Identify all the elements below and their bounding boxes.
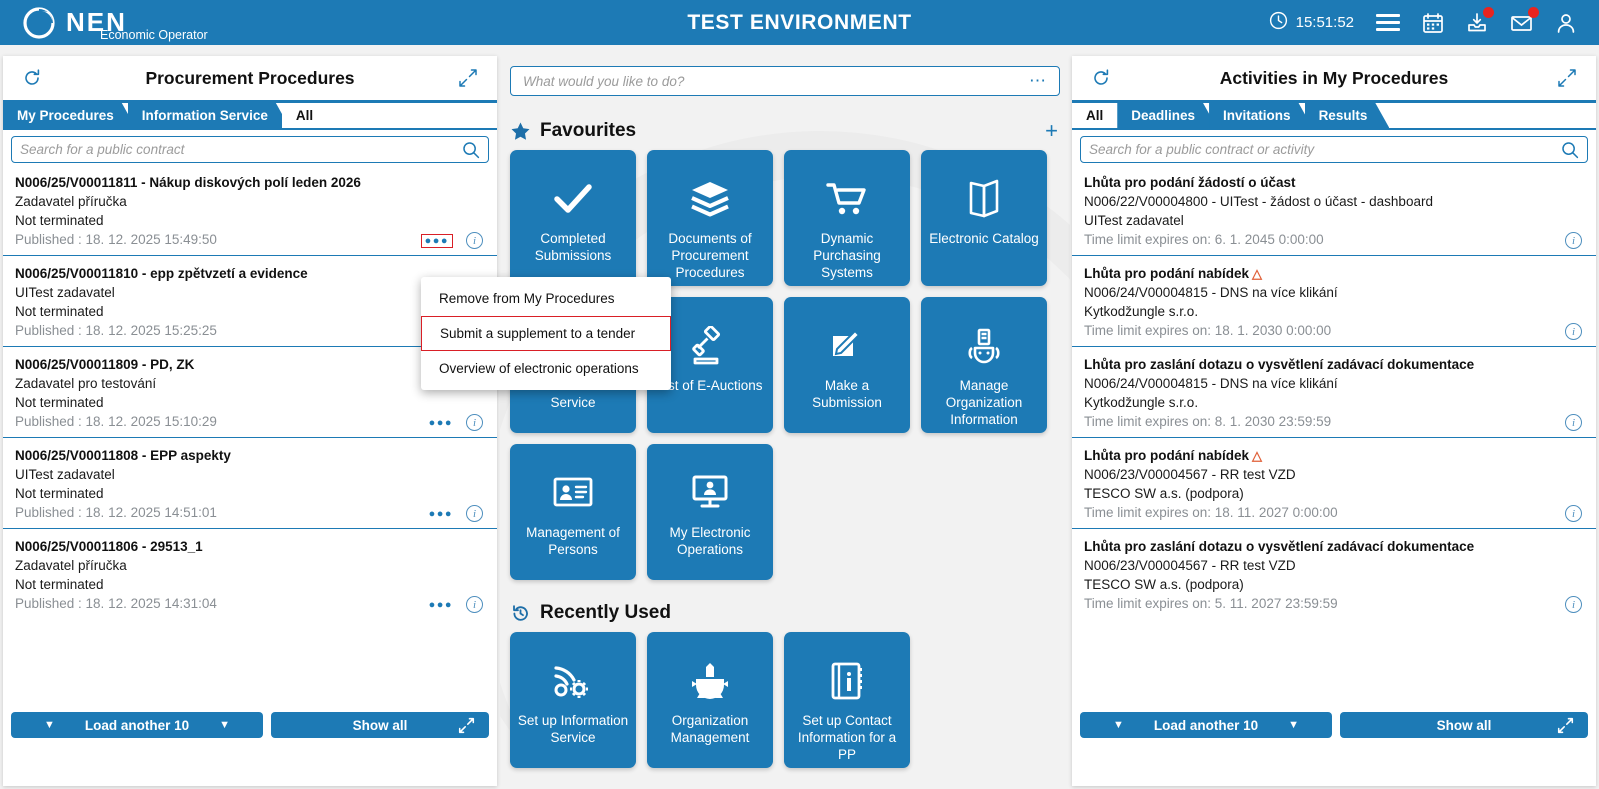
tab-label: Deadlines: [1131, 108, 1195, 123]
row-actions: i: [1565, 596, 1582, 613]
row-actions: i: [1565, 414, 1582, 431]
monitor-user-icon: [690, 470, 730, 516]
tile-label: My Electronic Operations: [647, 524, 773, 558]
info-icon[interactable]: i: [466, 414, 483, 431]
procedure-status: Not terminated: [15, 302, 485, 321]
load-more-button[interactable]: ▼ Load another 10 ▼: [1080, 712, 1332, 738]
expand-icon: [1557, 717, 1574, 734]
left-panel-header: Procurement Procedures: [3, 56, 497, 103]
check-icon: [553, 176, 593, 222]
brand-logo[interactable]: NEN Economic Operator: [0, 6, 127, 40]
tile-set-up-information-service[interactable]: Set up Information Service: [510, 632, 636, 768]
tile-manage-organization-information[interactable]: Manage Organization Information: [921, 297, 1047, 433]
refresh-icon[interactable]: [1090, 67, 1112, 89]
activities-list: Lhůta pro podání žádostí o účast N006/22…: [1072, 165, 1596, 619]
load-more-label: Load another 10: [85, 718, 189, 733]
user-icon[interactable]: [1555, 12, 1577, 34]
activity-limit: Time limit expires on: 6. 1. 2045 0:00:0…: [1084, 230, 1584, 249]
procedure-status: Not terminated: [15, 211, 485, 230]
tab-label: Invitations: [1223, 108, 1291, 123]
procedure-published: Published : 18. 12. 2025 15:10:29: [15, 412, 485, 431]
row-actions: ●●● i: [421, 232, 483, 249]
activity-contract: N006/24/V00004815 - DNS na více klikání: [1084, 374, 1584, 393]
row-actions: ●●● i: [429, 414, 483, 431]
show-all-label: Show all: [1437, 718, 1492, 733]
organization-gear-icon: [690, 658, 730, 704]
calendar-icon[interactable]: [1422, 12, 1444, 34]
tile-management-of-persons[interactable]: Management of Persons: [510, 444, 636, 580]
tabs-divider: [1072, 128, 1596, 130]
context-menu-item-remove-from-my-procedures[interactable]: Remove from My Procedures: [421, 281, 671, 316]
row-actions: i: [1565, 505, 1582, 522]
activity-org: UITest zadavatel: [1084, 211, 1584, 230]
clock-display: 15:51:52: [1269, 11, 1354, 34]
procedure-title: N006/25/V00011810 - epp zpětvzetí a evid…: [15, 264, 485, 283]
procedure-org: Zadavatel pro testování: [15, 374, 485, 393]
search-input[interactable]: [20, 142, 462, 157]
tab-all[interactable]: All: [282, 103, 335, 128]
envelope-icon[interactable]: [1510, 12, 1533, 34]
activities-panel: Activities in My Procedures All Deadline…: [1072, 56, 1596, 786]
tab-invitations[interactable]: Invitations: [1209, 103, 1313, 128]
right-search-box[interactable]: [1080, 136, 1588, 163]
search-input[interactable]: [1089, 142, 1561, 157]
page-title: Activities in My Procedures: [1112, 68, 1556, 89]
activity-title: Lhůta pro zaslání dotazu o vysvětlení za…: [1084, 357, 1474, 372]
tile-completed-submissions[interactable]: Completed Submissions: [510, 150, 636, 286]
row-actions: ●●● i: [429, 596, 483, 613]
list-item[interactable]: N006/25/V00011808 - EPP aspekty UITest z…: [3, 438, 497, 529]
procedure-org: Zadavatel příručka: [15, 192, 485, 211]
info-icon[interactable]: i: [466, 505, 483, 522]
right-panel-footer-buttons: ▼ Load another 10 ▼ Show all: [1080, 712, 1588, 738]
activity-title: Lhůta pro podání nabídek: [1084, 448, 1249, 463]
tab-label: My Procedures: [17, 108, 114, 123]
tile-label: Electronic Catalog: [923, 230, 1045, 247]
activity-org: TESCO SW a.s. (podpora): [1084, 484, 1584, 503]
notification-badge: [1528, 7, 1539, 18]
info-icon[interactable]: i: [1565, 596, 1582, 613]
context-menu-item-overview-of-electronic-operations[interactable]: Overview of electronic operations: [421, 351, 671, 386]
search-icon[interactable]: [462, 141, 480, 159]
tile-label: Dynamic Purchasing Systems: [784, 230, 910, 281]
favourites-header: Favourites +: [510, 120, 1058, 142]
procurement-procedures-panel: Procurement Procedures My Procedures Inf…: [3, 56, 497, 786]
load-more-label: Load another 10: [1154, 718, 1258, 733]
tile-label: Completed Submissions: [510, 230, 636, 264]
list-item[interactable]: N006/25/V00011811 - Nákup diskových polí…: [3, 165, 497, 256]
row-actions: i: [1565, 232, 1582, 249]
star-icon: [510, 121, 531, 142]
tab-label: All: [296, 108, 313, 123]
tile-dynamic-purchasing-systems[interactable]: Dynamic Purchasing Systems: [784, 150, 910, 286]
activity-contract: N006/23/V00004567 - RR test VZD: [1084, 465, 1584, 484]
left-panel-footer-buttons: ▼ Load another 10 ▼ Show all: [11, 712, 489, 738]
left-search-box[interactable]: [11, 136, 489, 163]
warning-icon: △: [1252, 448, 1262, 463]
info-icon[interactable]: i: [466, 596, 483, 613]
recently-used-header: Recently Used: [510, 602, 1058, 624]
activity-title: Lhůta pro zaslání dotazu o vysvětlení za…: [1084, 539, 1474, 554]
plus-icon[interactable]: +: [1045, 122, 1058, 140]
activity-org: Kytkodžungle s.r.o.: [1084, 302, 1584, 321]
tab-results[interactable]: Results: [1305, 103, 1390, 128]
clock-icon: [1269, 11, 1288, 34]
pencil-square-icon: [828, 323, 866, 369]
activity-contract: N006/24/V00004815 - DNS na více klikání: [1084, 283, 1584, 302]
procedure-title: N006/25/V00011808 - EPP aspekty: [15, 446, 485, 465]
activity-limit: Time limit expires on: 18. 1. 2030 0:00:…: [1084, 321, 1584, 340]
tile-make-a-submission[interactable]: Make a Submission: [784, 297, 910, 433]
context-menu-item-label: Remove from My Procedures: [439, 291, 615, 306]
layers-icon: [690, 176, 730, 222]
notification-badge: [1483, 7, 1494, 18]
recently-used-title: Recently Used: [540, 602, 671, 624]
organization-gear-icon: [964, 323, 1004, 369]
list-item[interactable]: Lhůta pro podání žádostí o účast N006/22…: [1072, 165, 1596, 256]
activity-limit: Time limit expires on: 8. 1. 2030 23:59:…: [1084, 412, 1584, 431]
id-card-icon: [552, 470, 594, 516]
row-actions: ●●● i: [429, 505, 483, 522]
inbox-download-icon[interactable]: [1466, 12, 1488, 34]
brand-subtitle: Economic Operator: [100, 29, 208, 42]
search-icon[interactable]: [1561, 141, 1579, 159]
book-icon: [967, 176, 1001, 222]
context-menu-item-label: Submit a supplement to a tender: [440, 326, 635, 341]
tile-label: Documents of Procurement Procedures: [647, 230, 773, 281]
procedure-published: Published : 18. 12. 2025 15:49:50: [15, 230, 485, 249]
row-actions: i: [1565, 323, 1582, 340]
procedure-status: Not terminated: [15, 393, 485, 412]
tile-label: Manage Organization Information: [921, 377, 1047, 428]
tab-label: Information Service: [142, 108, 268, 123]
list-item[interactable]: Lhůta pro zaslání dotazu o vysvětlení za…: [1072, 529, 1596, 619]
expand-icon: [458, 717, 475, 734]
tile-documents-of-procurement-procedures[interactable]: Documents of Procurement Procedures: [647, 150, 773, 286]
recently-used-tiles: Set up Information Service Organization …: [510, 632, 1060, 768]
tile-label: Make a Submission: [784, 377, 910, 411]
command-search-box[interactable]: ⋯: [510, 66, 1060, 96]
show-all-button[interactable]: Show all: [1340, 712, 1588, 738]
row-context-menu: Remove from My Procedures Submit a suppl…: [421, 277, 671, 390]
chevron-down-icon: ▼: [1288, 719, 1299, 731]
list-item[interactable]: Lhůta pro podání nabídek△ N006/24/V00004…: [1072, 256, 1596, 347]
tab-my-procedures[interactable]: My Procedures: [3, 103, 136, 128]
shopping-cart-icon: [826, 176, 868, 222]
favourites-title: Favourites: [540, 120, 636, 142]
procedure-published: Published : 18. 12. 2025 15:25:25: [15, 321, 485, 340]
info-icon[interactable]: i: [1565, 323, 1582, 340]
hamburger-menu-icon[interactable]: [1376, 14, 1400, 31]
info-book-icon: [829, 658, 865, 704]
activity-org: Kytkodžungle s.r.o.: [1084, 393, 1584, 412]
left-panel-tabs: My Procedures Information Service All: [3, 103, 497, 128]
tile-organization-management[interactable]: Organization Management: [647, 632, 773, 768]
nen-logo-icon: [22, 6, 56, 40]
warning-icon: △: [1252, 266, 1262, 281]
tab-label: All: [1086, 108, 1103, 123]
procedure-status: Not terminated: [15, 484, 485, 503]
row-menu-icon[interactable]: ●●●: [421, 234, 453, 248]
row-menu-icon[interactable]: ●●●: [429, 418, 453, 428]
procedure-org: Zadavatel příručka: [15, 556, 485, 575]
ellipsis-icon[interactable]: ⋯: [1029, 76, 1047, 86]
chevron-down-icon: ▼: [1113, 719, 1124, 731]
procedure-title: N006/25/V00011806 - 29513_1: [15, 537, 485, 556]
chevron-down-icon: ▼: [44, 719, 55, 731]
tile-label: Set up Contact Information for a PP: [784, 712, 910, 763]
activity-title: Lhůta pro podání žádostí o účast: [1084, 175, 1296, 190]
procedure-title: N006/25/V00011809 - PD, ZK: [15, 355, 485, 374]
procedure-org: UITest zadavatel: [15, 283, 485, 302]
context-menu-item-submit-a-supplement-to-a-tender[interactable]: Submit a supplement to a tender: [421, 316, 671, 351]
procedure-published: Published : 18. 12. 2025 14:31:04: [15, 594, 485, 613]
right-panel-tabs: All Deadlines Invitations Results: [1072, 103, 1596, 128]
info-icon[interactable]: i: [1565, 414, 1582, 431]
activity-limit: Time limit expires on: 18. 11. 2027 0:00…: [1084, 503, 1584, 522]
info-icon[interactable]: i: [1565, 232, 1582, 249]
tile-electronic-catalog[interactable]: Electronic Catalog: [921, 150, 1047, 286]
tile-set-up-contact-information-for-a-pp[interactable]: Set up Contact Information for a PP: [784, 632, 910, 768]
center-dashboard: ⋯ Favourites + Completed Submissions Doc…: [500, 56, 1070, 789]
tab-deadlines[interactable]: Deadlines: [1117, 103, 1217, 128]
activity-contract: N006/23/V00004567 - RR test VZD: [1084, 556, 1584, 575]
procedures-list: N006/25/V00011811 - Nákup diskových polí…: [3, 165, 497, 619]
activity-limit: Time limit expires on: 5. 11. 2027 23:59…: [1084, 594, 1584, 613]
row-menu-icon[interactable]: ●●●: [429, 509, 453, 519]
load-more-button[interactable]: ▼ Load another 10 ▼: [11, 712, 263, 738]
clock-time: 15:51:52: [1296, 14, 1354, 31]
chevron-down-icon: ▼: [219, 719, 230, 731]
activity-contract: N006/22/V00004800 - UITest - žádost o úč…: [1084, 192, 1584, 211]
procedure-published: Published : 18. 12. 2025 14:51:01: [15, 503, 485, 522]
info-icon[interactable]: i: [1565, 505, 1582, 522]
info-icon[interactable]: i: [466, 232, 483, 249]
list-item[interactable]: N006/25/V00011806 - 29513_1 Zadavatel př…: [3, 529, 497, 619]
expand-icon[interactable]: [457, 67, 479, 89]
activity-title: Lhůta pro podání nabídek: [1084, 266, 1249, 281]
tab-label: Results: [1319, 108, 1368, 123]
tile-label: Organization Management: [647, 712, 773, 746]
row-menu-icon[interactable]: ●●●: [429, 600, 453, 610]
list-item[interactable]: Lhůta pro podání nabídek△ N006/23/V00004…: [1072, 438, 1596, 529]
tabs-divider: [3, 128, 497, 130]
gavel-icon: [689, 323, 731, 369]
show-all-label: Show all: [353, 718, 408, 733]
tile-label: Management of Persons: [510, 524, 636, 558]
tile-my-electronic-operations[interactable]: My Electronic Operations: [647, 444, 773, 580]
activity-org: TESCO SW a.s. (podpora): [1084, 575, 1584, 594]
show-all-button[interactable]: Show all: [271, 712, 489, 738]
list-item[interactable]: Lhůta pro zaslání dotazu o vysvětlení za…: [1072, 347, 1596, 438]
page-title: Procurement Procedures: [43, 68, 457, 89]
history-icon: [510, 603, 531, 624]
procedure-status: Not terminated: [15, 575, 485, 594]
refresh-icon[interactable]: [21, 67, 43, 89]
command-search-input[interactable]: [523, 74, 1029, 89]
context-menu-item-label: Overview of electronic operations: [439, 361, 639, 376]
tab-information-service[interactable]: Information Service: [128, 103, 290, 128]
expand-icon[interactable]: [1556, 67, 1578, 89]
tile-label: Set up Information Service: [510, 712, 636, 746]
procedure-title: N006/25/V00011811 - Nákup diskových polí…: [15, 173, 485, 192]
procedure-org: UITest zadavatel: [15, 465, 485, 484]
top-header-bar: NEN Economic Operator TEST ENVIRONMENT 1…: [0, 0, 1599, 45]
rss-gear-icon: [552, 658, 594, 704]
right-panel-header: Activities in My Procedures: [1072, 56, 1596, 103]
